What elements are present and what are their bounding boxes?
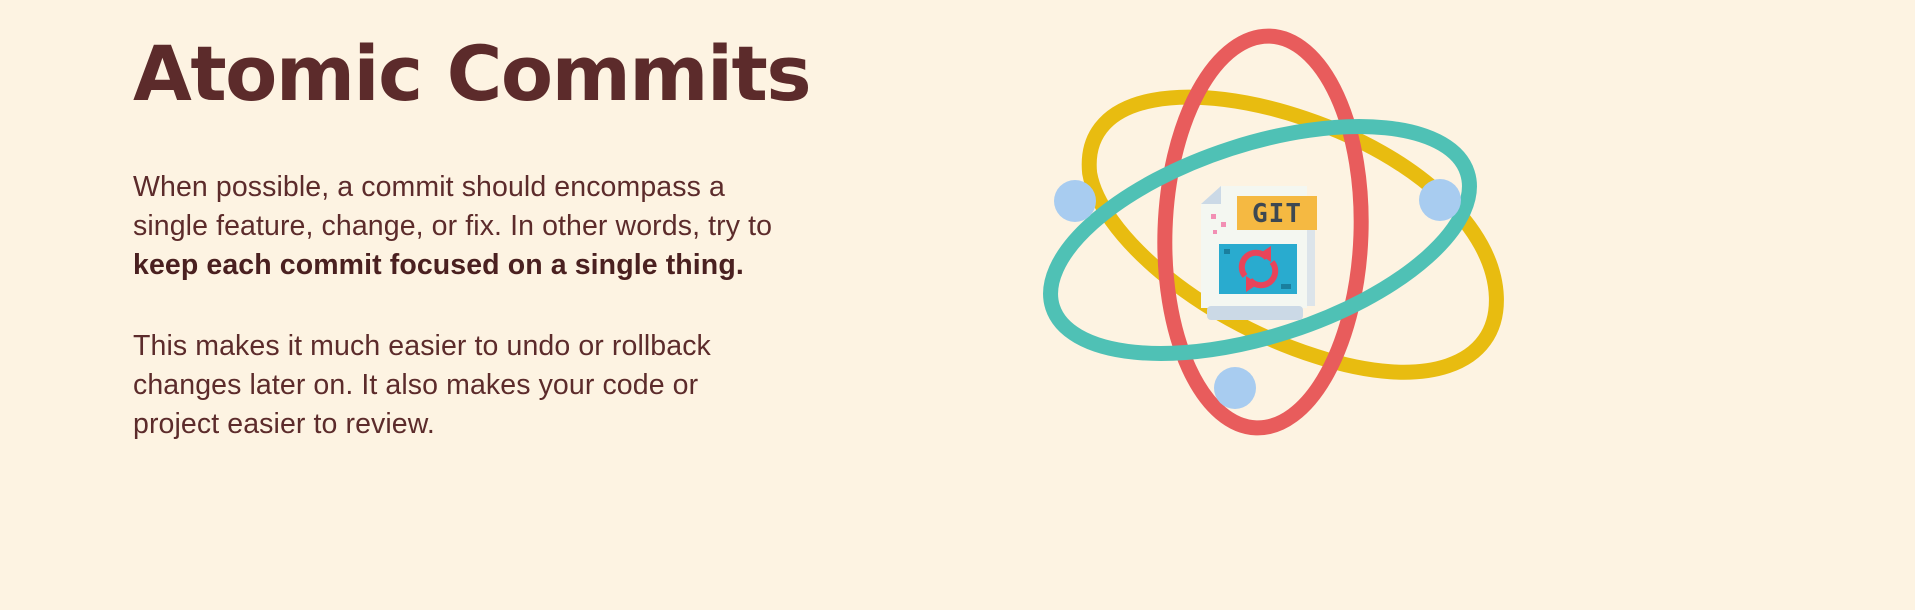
slide-root: Atomic Commits When possible, a commit s… <box>0 0 1915 610</box>
electron-left <box>1054 180 1096 222</box>
text-column: Atomic Commits When possible, a commit s… <box>133 34 833 444</box>
electron-bottom <box>1214 367 1256 409</box>
paragraph-1-bold-text: keep each commit focused on a single thi… <box>133 249 744 281</box>
screen-dot-right <box>1281 284 1291 289</box>
git-file-icon: GIT <box>1201 186 1317 320</box>
paragraph-1-normal-text: When possible, a commit should encompass… <box>133 171 772 242</box>
electron-right <box>1419 179 1461 221</box>
git-label-text: GIT <box>1252 199 1302 229</box>
paragraph-2-text: This makes it much easier to undo or rol… <box>133 330 711 440</box>
laptop-base <box>1207 306 1303 320</box>
paper-fold-corner <box>1201 186 1221 204</box>
paragraph-2: This makes it much easier to undo or rol… <box>133 327 773 444</box>
git-atom-illustration: GIT <box>905 0 1915 610</box>
body-copy: When possible, a commit should encompass… <box>133 168 833 444</box>
page-title: Atomic Commits <box>133 34 833 114</box>
screen-dot-left <box>1224 249 1230 254</box>
dot-2 <box>1221 222 1226 227</box>
dot-3 <box>1213 230 1217 234</box>
paragraph-1: When possible, a commit should encompass… <box>133 168 773 285</box>
dot-1 <box>1211 214 1216 219</box>
atom-svg: GIT <box>905 0 1915 610</box>
